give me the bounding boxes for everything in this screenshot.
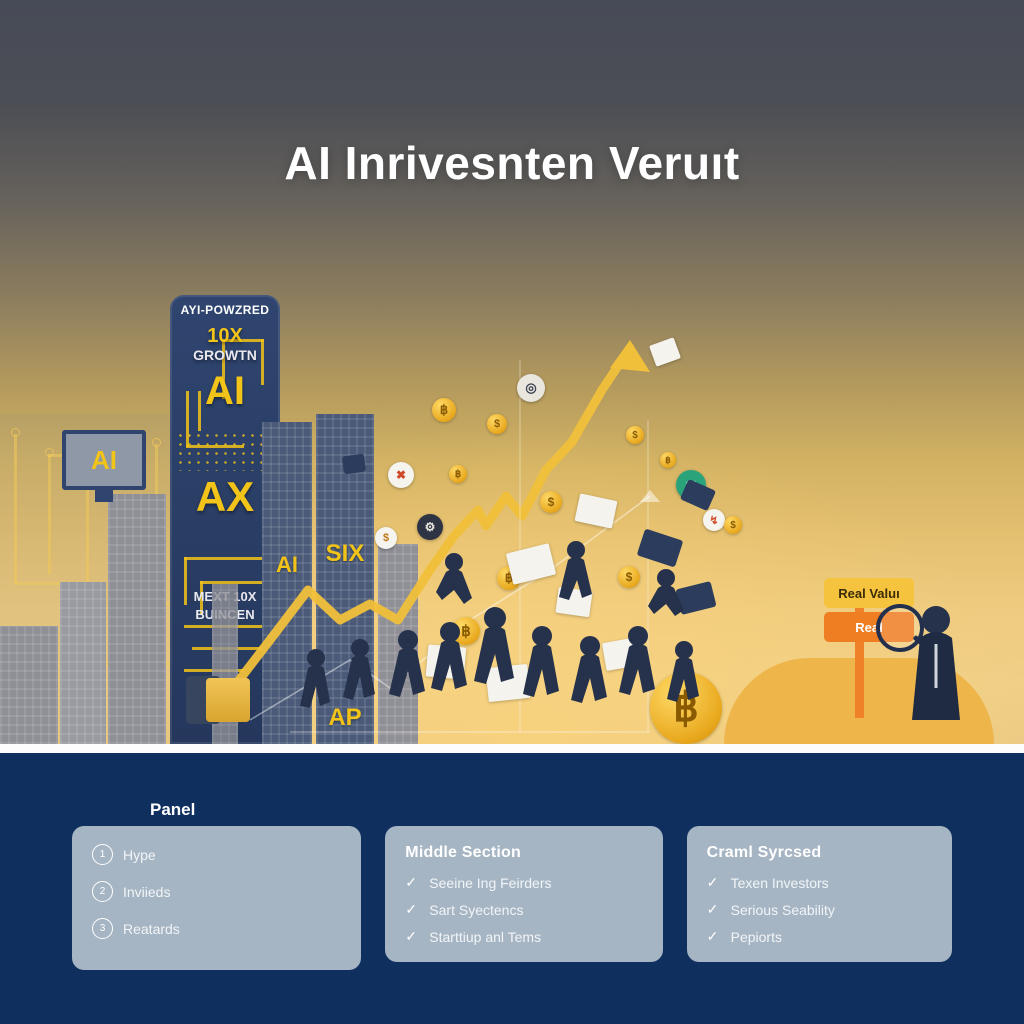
card-title: Middle Section [405,844,642,862]
list-item[interactable]: 2 Inviieds [92,881,341,902]
building-block [0,626,58,744]
check-icon: ✓ [405,901,419,918]
list: ✓ Texen Investors ✓ Serious Seability ✓ … [707,874,932,945]
check-icon: ✓ [405,874,419,891]
page-title: AI Inrivesnten Veruıt [0,136,1024,190]
list-item[interactable]: ✓ Texen Investors [707,874,932,891]
step-number-icon: 2 [92,881,113,902]
coin: $ [487,414,507,434]
panel-heading: Panel [150,800,195,820]
list-item[interactable]: ✓ Serious Seability [707,901,932,918]
coin: $ [724,516,742,534]
section-divider [0,744,1024,753]
step-number-icon: 3 [92,918,113,939]
flying-briefcase [342,454,366,475]
list-item[interactable]: 1 Hype [92,844,341,865]
investor-figure [900,598,990,728]
list-item[interactable]: ✓ Sart Syectencs [405,901,642,918]
card-title: Craml Syrcsed [707,844,932,862]
list-item-label: Seeine Ing Feirders [429,875,551,891]
list-item[interactable]: ✓ Seeine Ing Feirders [405,874,642,891]
list-item-label: Pepiorts [731,929,782,945]
falling-people [420,540,700,680]
card-craml-syrcsed[interactable]: Craml Syrcsed ✓ Texen Investors ✓ Seriou… [687,826,952,962]
poster-root: AI Inrivesnten Veruıt AI [0,0,1024,1024]
badge-icon: ↯ [703,509,725,531]
step-number-icon: 1 [92,844,113,865]
gold-stack [206,678,250,722]
ai-screen-sign: AI [62,430,146,490]
check-icon: ✓ [707,928,721,945]
list-item-label: Reatards [123,921,180,937]
check-icon: ✓ [405,928,419,945]
coin: $ [540,491,562,513]
list-item-label: Texen Investors [731,875,829,891]
coin: ฿ [432,398,456,422]
list: ✓ Seeine Ing Feirders ✓ Sart Syectencs ✓… [405,874,642,945]
building-block [60,582,106,744]
card-middle-section[interactable]: Middle Section ✓ Seeine Ing Feirders ✓ S… [385,826,662,962]
list-item-label: Starttiup anl Tems [429,929,541,945]
list-item[interactable]: ✓ Pepiorts [707,928,932,945]
coin: $ [626,426,644,444]
badge-icon: ⚙ [417,514,443,540]
list-item[interactable]: 3 Reatards [92,918,341,939]
ai-screen-label: AI [91,445,117,476]
list-item-label: Serious Seability [731,902,835,918]
list-item[interactable]: ✓ Starttiup anl Tems [405,928,642,945]
coin: ฿ [660,452,676,468]
card-panel-list[interactable]: 1 Hype 2 Inviieds 3 Reatards [72,826,361,970]
check-icon: ✓ [707,874,721,891]
coin: ฿ [449,465,467,483]
hero-illustration: AI Inrivesnten Veruıt AI [0,0,1024,744]
list-item-label: Inviieds [123,884,170,900]
badge-icon: ◎ [517,374,545,402]
list-item-label: Hype [123,847,156,863]
panel-cards: 1 Hype 2 Inviieds 3 Reatards Middle Sect… [72,826,952,970]
billboard-header: AYI-POWZRED [170,303,280,317]
list: 1 Hype 2 Inviieds 3 Reatards [92,844,341,939]
badge-icon: ✖ [388,462,414,488]
list-item-label: Sart Syectencs [429,902,523,918]
building-block [108,494,166,744]
check-icon: ✓ [707,901,721,918]
